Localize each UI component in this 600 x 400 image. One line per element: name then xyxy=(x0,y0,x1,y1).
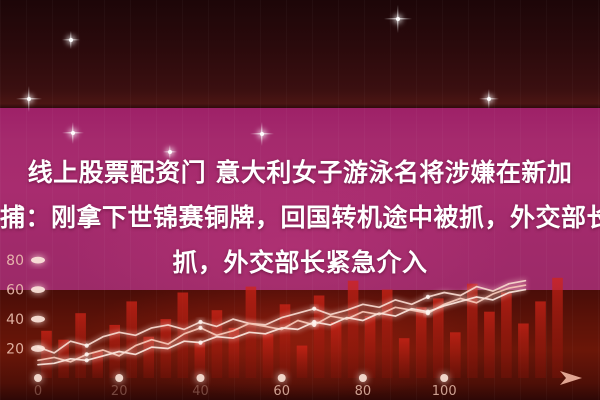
chart-bar xyxy=(263,334,274,378)
chart-data-point xyxy=(426,310,430,314)
chart-bar xyxy=(535,301,546,378)
y-tick-marker xyxy=(31,345,45,352)
headline-line-2: 捕：刚拿下世锦赛铜牌，回国转机途中被抓，外交部长 xyxy=(0,195,600,240)
chart-bar xyxy=(331,322,342,378)
chart-bar xyxy=(297,346,308,378)
chart-bar xyxy=(501,293,512,379)
x-tick-marker xyxy=(359,374,367,382)
chart-data-point xyxy=(85,358,89,362)
chart-data-point xyxy=(312,307,316,311)
y-tick-marker xyxy=(31,316,45,323)
x-tick-marker xyxy=(115,374,123,382)
chart-bar xyxy=(416,307,427,378)
x-tick-label: 60 xyxy=(273,384,290,399)
x-tick-label: 0 xyxy=(34,384,42,399)
x-tick-marker xyxy=(197,374,205,382)
chart-bar xyxy=(348,281,359,378)
chart-data-point xyxy=(426,295,430,299)
chart-bar xyxy=(484,312,495,378)
x-tick-label: 80 xyxy=(355,384,372,399)
chart-bar xyxy=(229,328,240,378)
headline-line-3: 抓，外交部长紧急介入 xyxy=(0,240,600,285)
chart-data-point xyxy=(198,320,202,324)
headline-line-1: 线上股票配资门 意大利女子游泳名将涉嫌在新加 xyxy=(0,150,600,195)
poster-canvas: 20406080 020406080100 线上股票配资门 意大利女子游泳名将涉… xyxy=(0,0,600,400)
chart-data-point xyxy=(312,320,316,324)
chart-bar xyxy=(399,338,410,378)
x-tick-marker xyxy=(440,374,448,382)
x-tick-label: 40 xyxy=(192,384,209,399)
chart-bar xyxy=(365,316,376,378)
chart-bar xyxy=(126,301,137,378)
chart-bar xyxy=(450,332,461,378)
chart-bar xyxy=(92,352,103,379)
chart-data-point xyxy=(85,352,89,356)
chart-data-point xyxy=(198,341,202,345)
chart-data-point xyxy=(198,326,202,330)
chart-bar xyxy=(552,278,563,378)
chart-bar xyxy=(195,343,206,378)
x-tick-marker xyxy=(278,374,286,382)
y-tick-label: 20 xyxy=(6,342,24,358)
x-tick-label: 100 xyxy=(432,384,457,399)
y-tick-label: 60 xyxy=(6,283,24,299)
chart-bar xyxy=(518,324,529,379)
x-tick-label: 20 xyxy=(111,384,128,399)
chart-bar xyxy=(41,331,52,378)
headline-text: 线上股票配资门 意大利女子游泳名将涉嫌在新加 捕：刚拿下世锦赛铜牌，回国转机途中… xyxy=(0,150,600,285)
chart-data-point xyxy=(85,344,89,348)
y-tick-marker xyxy=(31,286,45,293)
chart-bar xyxy=(212,310,223,378)
y-tick-label: 40 xyxy=(6,312,24,328)
x-tick-marker xyxy=(34,374,42,382)
